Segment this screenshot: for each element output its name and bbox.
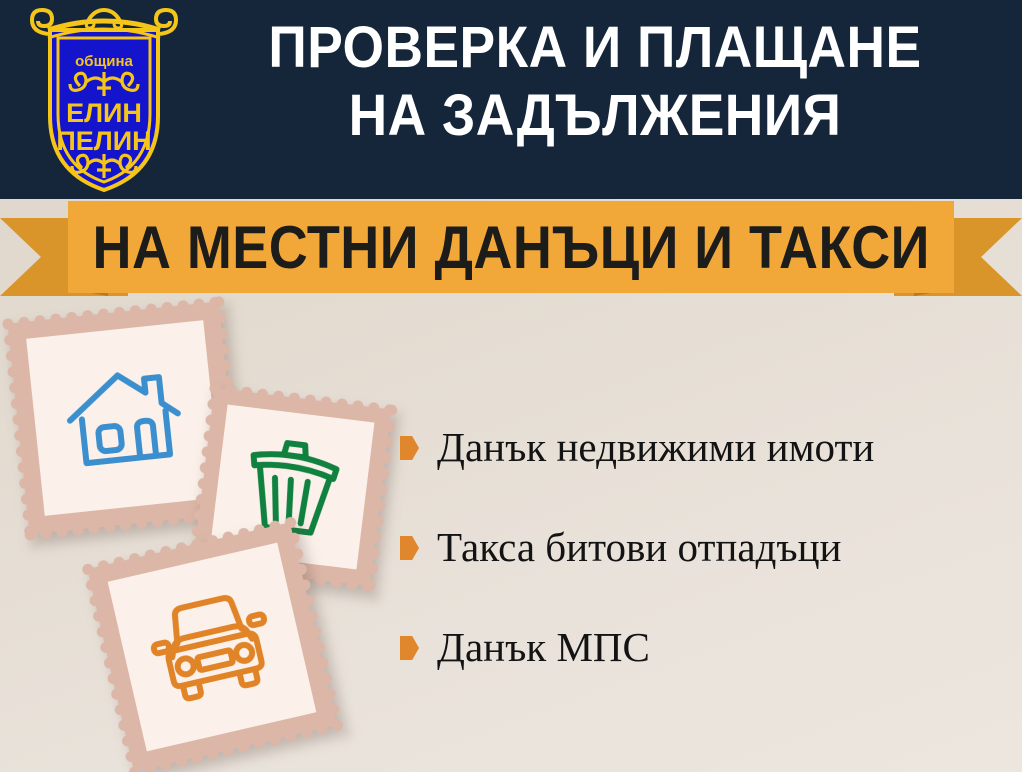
stamp-scallop [379,451,391,463]
stamp-scallop [3,334,15,346]
stamp-scallop [301,594,314,607]
stamp-scallop [367,401,379,413]
list-item-label: Данък МПС [437,624,650,670]
stamp-scallop [15,445,27,457]
stamp-scallop [6,365,18,377]
stamp-scallop [5,349,17,361]
stamp-scallop [314,574,326,586]
stamp-scallop [129,304,141,316]
stamp-scallop [195,493,207,505]
stamp-scallop [212,295,224,307]
stamp-scallop [143,548,156,561]
stamp-scallop [312,640,325,653]
stamp-scallop [112,555,125,568]
stamp-scallop [252,736,265,749]
stamp-scallop [23,524,35,536]
stamp-scallop [33,314,45,326]
stamp-scallop [345,578,357,590]
stamp-scallop [201,445,213,457]
page-title-line1: ПРОВЕРКА И ПЛАЩАНЕ [222,14,967,82]
stamp-scallop [103,520,115,532]
stamp-scallop [190,751,203,764]
stamp-scallop [217,343,229,355]
stamp-scallop [127,552,140,565]
municipality-logo: община ЕЛИН ПЕЛИН [22,4,187,196]
stamp-scallop [65,311,77,323]
stamp-scallop [204,413,216,425]
ribbon-label: НА МЕСТНИ ДАНЪЦИ И ТАКСИ [92,213,929,282]
stamp-scallop [106,672,119,685]
stamp-scallop [371,515,383,527]
car-front-icon [139,581,286,713]
header-title-block: ПРОВЕРКА И ПЛАЩАНЕ НА ЗАДЪЛЖЕНИЯ [190,14,1000,150]
stamp-scallop [159,758,172,771]
stamp-scallop [216,327,228,339]
stamp-scallop [151,515,163,527]
stamp-scallop [199,461,211,473]
stamp-scallop [124,750,137,763]
stamp-scallop [309,625,322,638]
stamp-scallop [240,386,252,398]
stamp-scallop [161,301,173,313]
stamp-scallop [299,726,312,739]
stamp-scallop [214,311,226,323]
subtitle-ribbon: НА МЕСТНИ ДАНЪЦИ И ТАКСИ [0,196,1022,308]
stamp-scallop [316,656,329,669]
house-icon [59,357,190,479]
stamp-scallop [288,391,300,403]
stamp-scallop [84,578,97,591]
page-title-line2: НА ЗАДЪЛЖЕНИЯ [222,82,967,150]
stamp-scallop [335,397,347,409]
stamp-scallop [197,477,209,489]
stamp-scallop [193,509,205,521]
stamp-scallop [159,544,172,557]
stamp-scallop [327,703,340,716]
stamp-scallop [143,762,156,772]
list-item: Такса битови отпадъци [400,524,1010,570]
stamp-scallop [283,729,296,742]
stamp-scallop [167,513,179,525]
stamp-scallop [319,672,332,685]
stamp-scallop [87,522,99,534]
stamp-scallop [1,318,13,330]
stamp-scallop [373,499,385,511]
stamp-scallop [351,399,363,411]
stamp-scallop [11,413,23,425]
ribbon-band: НА МЕСТНИ ДАНЪЦИ И ТАКСИ [68,201,954,293]
stamp-scallop [40,527,52,539]
stamp-scallop [315,722,328,735]
list-item: Данък МПС [400,624,1010,670]
stamp-scallop [81,562,94,575]
bullet-arrow-icon [400,436,419,460]
bullet-arrow-icon [400,636,419,660]
stamp-scallop [95,625,108,638]
stamp-scallop [205,747,218,760]
logo-word-line1: ЕЛИН [66,98,142,128]
stamp-scallop [206,398,218,410]
stamp-scallop [17,461,29,473]
stamp-scallop [377,467,389,479]
stamp-scallop [368,546,380,558]
stamp-scallop [320,395,332,407]
bullet-arrow-icon [400,536,419,560]
logo-word-line2: ПЕЛИН [56,126,151,156]
stamp-scallop [55,525,67,537]
stamp-scallop [71,523,83,535]
stamp-scallop [13,429,25,441]
tax-type-list: Данък недвижими имоти Такса битови отпад… [400,424,1010,724]
coat-of-arms-icon: община ЕЛИН ПЕЛИН [22,4,187,196]
stamp-scallop [381,435,393,447]
stamp-scallop [8,381,20,393]
stamp-scallop [272,389,284,401]
stamp-scallop [268,733,281,746]
list-item: Данък недвижими имоти [400,424,1010,470]
stamp-scallop [366,562,378,574]
stamp-scallop [17,316,29,328]
stamp-scallop [117,718,130,731]
stamp-scallop [237,740,250,753]
stamp-scallop [219,359,231,371]
stamp-scallop [221,744,234,757]
stamp-scallop [256,388,268,400]
stamp-scallop [145,303,157,315]
stamp-scallop [323,687,336,700]
stamp-scallop [120,734,133,747]
stamp-scallop [88,594,101,607]
stamp-scallop [109,687,122,700]
stamp-scallop [176,299,188,311]
list-item-label: Такса битови отпадъци [437,524,841,570]
stamp-scallop [383,419,395,431]
stamp-scallop [99,640,112,653]
stamp-scallop [369,530,381,542]
stamp-scallop [113,306,125,318]
logo-word-top: община [75,53,133,70]
header-bar: община ЕЛИН ПЕЛИН [0,0,1022,199]
stamp-scallop [385,403,397,415]
stamp-scallop [330,576,342,588]
poster-canvas: община ЕЛИН ПЕЛИН [0,0,1022,772]
stamp-scallop [192,298,204,310]
stamp-scallop [174,541,187,554]
stamp-scallop [97,308,109,320]
stamp-scallop [208,382,220,394]
stamp-scallop [305,609,318,622]
stamp-scallop [375,483,387,495]
trash-bin-icon [234,428,350,546]
stamp-scallop [330,718,343,731]
stamp-scallop [102,656,115,669]
stamp-scallop [119,518,131,530]
stamp-scallop [191,525,203,537]
stamp-scallop [174,754,187,767]
stamp-scallop [135,517,147,529]
stamp-scallop [18,477,30,489]
stamp-scallop [22,509,34,521]
stamp-scallop [20,493,32,505]
stamp-scallop [224,384,236,396]
stamp-scallop [91,609,104,622]
stamp-scallop [96,559,109,572]
stamp-scallop [304,393,316,405]
stamp-scallop [364,578,376,590]
stamp-scallop [81,309,93,321]
stamp-scallop [10,397,22,409]
stamp-scallop [203,429,215,441]
stamp-scallop [113,703,126,716]
stamp-scallop [127,765,140,772]
stamp-scallop [49,313,61,325]
list-item-label: Данък недвижими имоти [437,424,874,470]
